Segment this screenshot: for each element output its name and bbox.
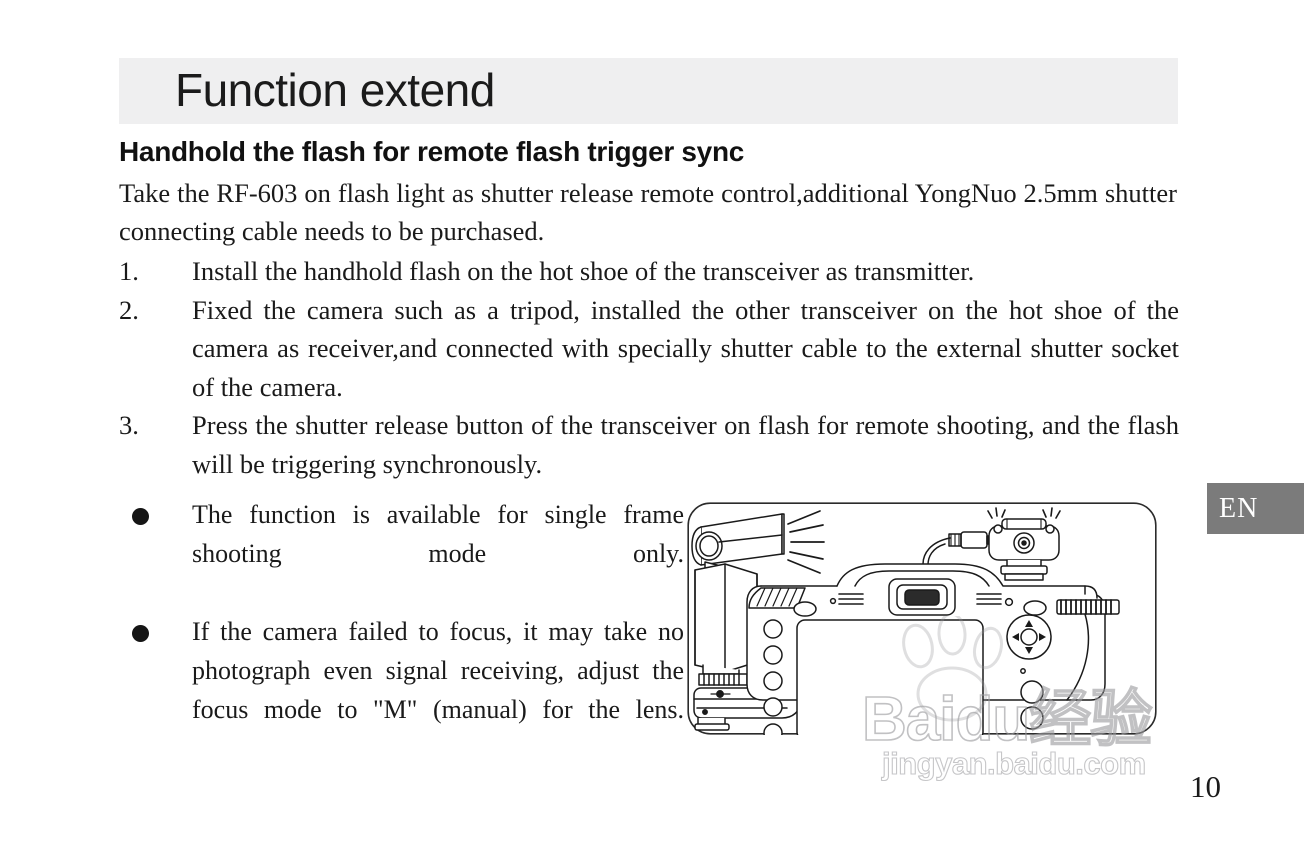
step-marker: 1. [119,252,179,291]
watermark-sub-text: jingyan.baidu.com [882,746,1146,782]
list-item: If the camera failed to focus, it may ta… [119,612,684,768]
page-title-banner: Function extend [119,58,1178,124]
list-item: 1. Install the handhold flash on the hot… [119,252,1179,291]
bullet-icon [132,625,149,642]
language-tab-en[interactable]: EN [1207,483,1304,534]
list-item: 3. Press the shutter release button of t… [119,406,1179,483]
note-text: The function is available for single fra… [192,495,684,612]
list-item: The function is available for single fra… [119,495,684,612]
step-marker: 2. [119,291,179,330]
bullet-icon [132,508,149,525]
diagram-illustration [687,502,1157,735]
steps-list: 1. Install the handhold flash on the hot… [119,252,1179,483]
page-title: Function extend [175,63,495,117]
step-text: Fixed the camera such as a tripod, insta… [192,291,1179,407]
list-item: 2. Fixed the camera such as a tripod, in… [119,291,1179,407]
note-text: If the camera failed to focus, it may ta… [192,612,684,768]
intro-paragraph: Take the RF-603 on flash light as shutte… [119,174,1177,250]
notes-list: The function is available for single fra… [119,495,684,768]
step-marker: 3. [119,406,179,445]
page-number: 10 [1190,769,1221,805]
language-tab-label: EN [1219,493,1258,525]
section-subheading: Handhold the flash for remote flash trig… [119,136,1189,168]
step-text: Press the shutter release button of the … [192,406,1179,483]
step-text: Install the handhold flash on the hot sh… [192,252,1179,291]
